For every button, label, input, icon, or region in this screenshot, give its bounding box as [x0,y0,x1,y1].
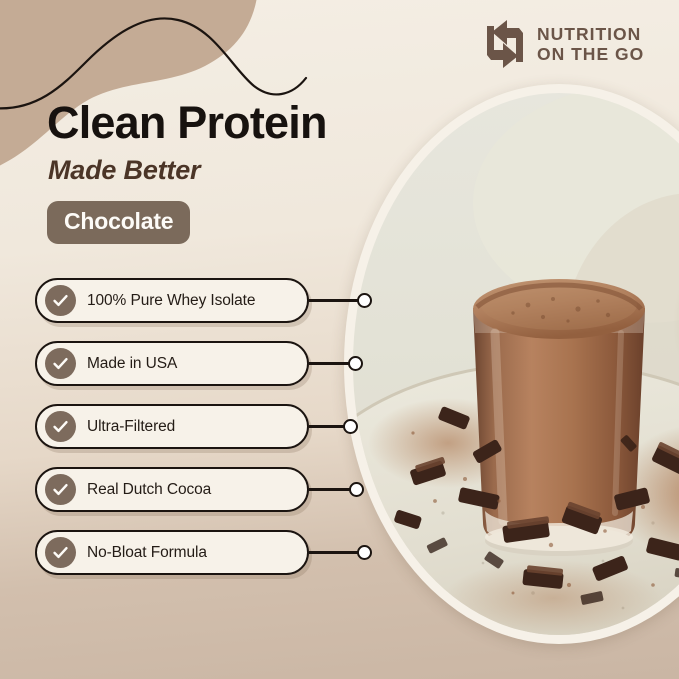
connector-dot-2 [348,356,363,371]
brand-line-1: NUTRITION [537,24,644,44]
check-icon [51,291,70,310]
flavor-badge: Chocolate [47,201,190,244]
product-image-frame [344,84,679,644]
check-circle-icon [45,348,76,379]
check-icon [51,543,70,562]
feature-label-3: Ultra-Filtered [87,418,175,436]
product-image [353,93,679,635]
check-icon [51,354,70,373]
brand-name: NUTRITION ON THE GO [537,24,644,64]
feature-label-2: Made in USA [87,355,177,373]
connector-dot-4 [349,482,364,497]
brand-logo: NUTRITION ON THE GO [484,18,644,70]
connector-dot-3 [343,419,358,434]
check-circle-icon [45,411,76,442]
feature-pill-4[interactable]: Real Dutch Cocoa [35,467,309,512]
feature-pill-5[interactable]: No-Bloat Formula [35,530,309,575]
feature-pill-1[interactable]: 100% Pure Whey Isolate [35,278,309,323]
page-title: Clean Protein [47,100,327,145]
check-circle-icon [45,474,76,505]
connector-dot-5 [357,545,372,560]
check-circle-icon [45,537,76,568]
feature-label-4: Real Dutch Cocoa [87,481,211,499]
check-circle-icon [45,285,76,316]
decorative-wave-line [0,18,306,108]
connector-line-2 [309,362,350,365]
connector-dot-1 [357,293,372,308]
feature-label-5: No-Bloat Formula [87,544,207,562]
connector-line-4 [309,488,351,491]
connector-line-3 [309,425,345,428]
feature-pill-2[interactable]: Made in USA [35,341,309,386]
double-arrow-recycle-icon [484,18,526,70]
check-icon [51,480,70,499]
product-photo-illustration [353,93,679,635]
connector-line-5 [309,551,359,554]
check-icon [51,417,70,436]
feature-label-1: 100% Pure Whey Isolate [87,292,255,310]
product-infographic: NUTRITION ON THE GO Clean Protein Made B… [0,0,679,679]
connector-line-1 [309,299,359,302]
page-subtitle: Made Better [48,155,200,186]
brand-line-2: ON THE GO [537,44,644,64]
feature-pill-3[interactable]: Ultra-Filtered [35,404,309,449]
